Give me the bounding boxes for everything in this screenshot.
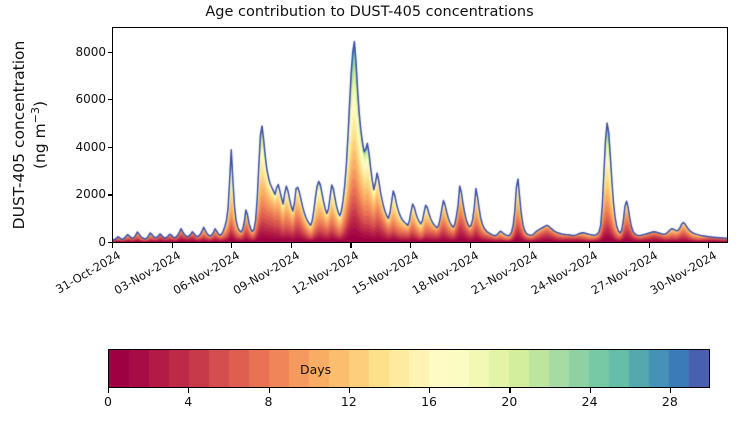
x-axis-tick-mark xyxy=(470,243,471,248)
colorbar-tick-mark xyxy=(670,388,671,393)
colorbar-label: Days xyxy=(300,362,331,377)
x-axis-tick-mark xyxy=(172,243,173,248)
colorbar-tick-mark xyxy=(590,388,591,393)
stacked-area-plot xyxy=(113,28,727,242)
colorbar-tick-label: 0 xyxy=(104,394,112,409)
colorbar-tick-mark xyxy=(269,388,270,393)
y-axis-label-line1: DUST-405 concentration xyxy=(10,41,28,230)
colorbar-tick-mark xyxy=(509,388,510,393)
y-axis-units-exponent: −3 xyxy=(29,107,42,123)
colorbar-tick-label: 24 xyxy=(582,394,598,409)
x-axis-tick-mark xyxy=(410,243,411,248)
y-axis-tick-label: 8000 xyxy=(75,45,106,59)
x-axis-tick-mark xyxy=(350,243,351,248)
y-axis-tick-label: 0 xyxy=(98,235,106,249)
y-axis-label-units: (ng m−3) xyxy=(31,101,49,169)
y-axis-units-prefix: (ng m xyxy=(31,123,49,169)
x-axis-tick-mark xyxy=(649,243,650,248)
colorbar-tick-mark xyxy=(188,388,189,393)
x-axis-tick-mark xyxy=(529,243,530,248)
colorbar-tick-label: 16 xyxy=(421,394,437,409)
colorbar-tick-mark xyxy=(349,388,350,393)
chart-title: Age contribution to DUST-405 concentrati… xyxy=(0,4,739,20)
y-axis-label: DUST-405 concentration (ng m−3) xyxy=(0,27,60,243)
colorbar-tick-labels: 0481216202428 xyxy=(108,394,710,414)
y-axis-tick-label: 2000 xyxy=(75,187,106,201)
colorbar-gradient xyxy=(109,350,709,387)
chart-figure: Age contribution to DUST-405 concentrati… xyxy=(0,0,739,425)
y-axis-units-suffix: ) xyxy=(31,101,49,107)
y-axis-tick-label: 4000 xyxy=(75,140,106,154)
colorbar-tick-mark xyxy=(429,388,430,393)
colorbar[interactable] xyxy=(108,349,710,388)
colorbar-tick-label: 8 xyxy=(265,394,273,409)
x-axis-tick-mark xyxy=(231,243,232,248)
x-axis-tick-mark xyxy=(708,243,709,248)
colorbar-tick-mark xyxy=(108,388,109,393)
y-axis-tick-label: 6000 xyxy=(75,92,106,106)
x-axis-tick-mark xyxy=(589,243,590,248)
x-axis-tick-mark xyxy=(112,243,113,248)
x-axis-tick-labels: 31-Oct-202403-Nov-202406-Nov-202409-Nov-… xyxy=(112,248,728,318)
colorbar-tick-label: 4 xyxy=(184,394,192,409)
plot-area xyxy=(112,27,728,243)
colorbar-tick-label: 12 xyxy=(341,394,357,409)
y-axis-tick-labels: 02000400060008000 xyxy=(62,27,106,243)
colorbar-tick-label: 28 xyxy=(662,394,678,409)
colorbar-tick-label: 20 xyxy=(501,394,517,409)
x-axis-tick-mark xyxy=(291,243,292,248)
